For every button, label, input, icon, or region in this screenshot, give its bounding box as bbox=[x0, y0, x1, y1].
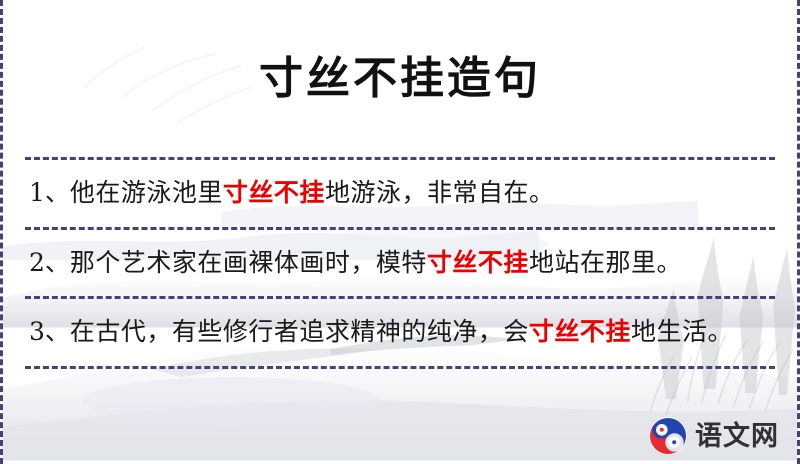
sentence-number-2: 2、 bbox=[29, 248, 70, 277]
sentence-item-1: 1、他在游泳池里寸丝不挂地游泳，非常自在。 bbox=[25, 160, 775, 227]
idiom-highlight-1: 寸丝不挂 bbox=[223, 178, 325, 207]
yinyang-fish-circle-icon bbox=[648, 416, 688, 456]
sentence-text-after-2: 地站在那里。 bbox=[529, 248, 682, 277]
page-title: 寸丝不挂造句 bbox=[25, 29, 775, 127]
sentence-number-1: 1、 bbox=[29, 178, 70, 207]
divider-bottom bbox=[25, 366, 775, 369]
sentence-text-before-1: 他在游泳池里 bbox=[70, 178, 223, 207]
worksheet-content: 寸丝不挂造句 1、他在游泳池里寸丝不挂地游泳，非常自在。 2、那个艺术家在画裸体… bbox=[3, 0, 797, 369]
watermark-label: 语文网 bbox=[695, 423, 779, 450]
idiom-highlight-3: 寸丝不挂 bbox=[529, 317, 631, 346]
sentence-text-before-2: 那个艺术家在画裸体画时，模特 bbox=[70, 248, 427, 277]
sentence-item-2: 2、那个艺术家在画裸体画时，模特寸丝不挂地站在那里。 bbox=[25, 230, 775, 297]
sentence-text-after-1: 地游泳，非常自在。 bbox=[325, 178, 555, 207]
sentence-number-3: 3、 bbox=[29, 317, 70, 346]
sentence-text-before-3: 在古代，有些修行者追求精神的纯净，会 bbox=[70, 317, 529, 346]
site-watermark: 语文网 bbox=[648, 416, 779, 456]
sentence-item-3: 3、在古代，有些修行者追求精神的纯净，会寸丝不挂地生活。 bbox=[25, 299, 775, 366]
worksheet-page: 寸丝不挂造句 1、他在游泳池里寸丝不挂地游泳，非常自在。 2、那个艺术家在画裸体… bbox=[0, 0, 800, 464]
sentence-text-after-3: 地生活。 bbox=[631, 317, 733, 346]
idiom-highlight-2: 寸丝不挂 bbox=[427, 248, 529, 277]
